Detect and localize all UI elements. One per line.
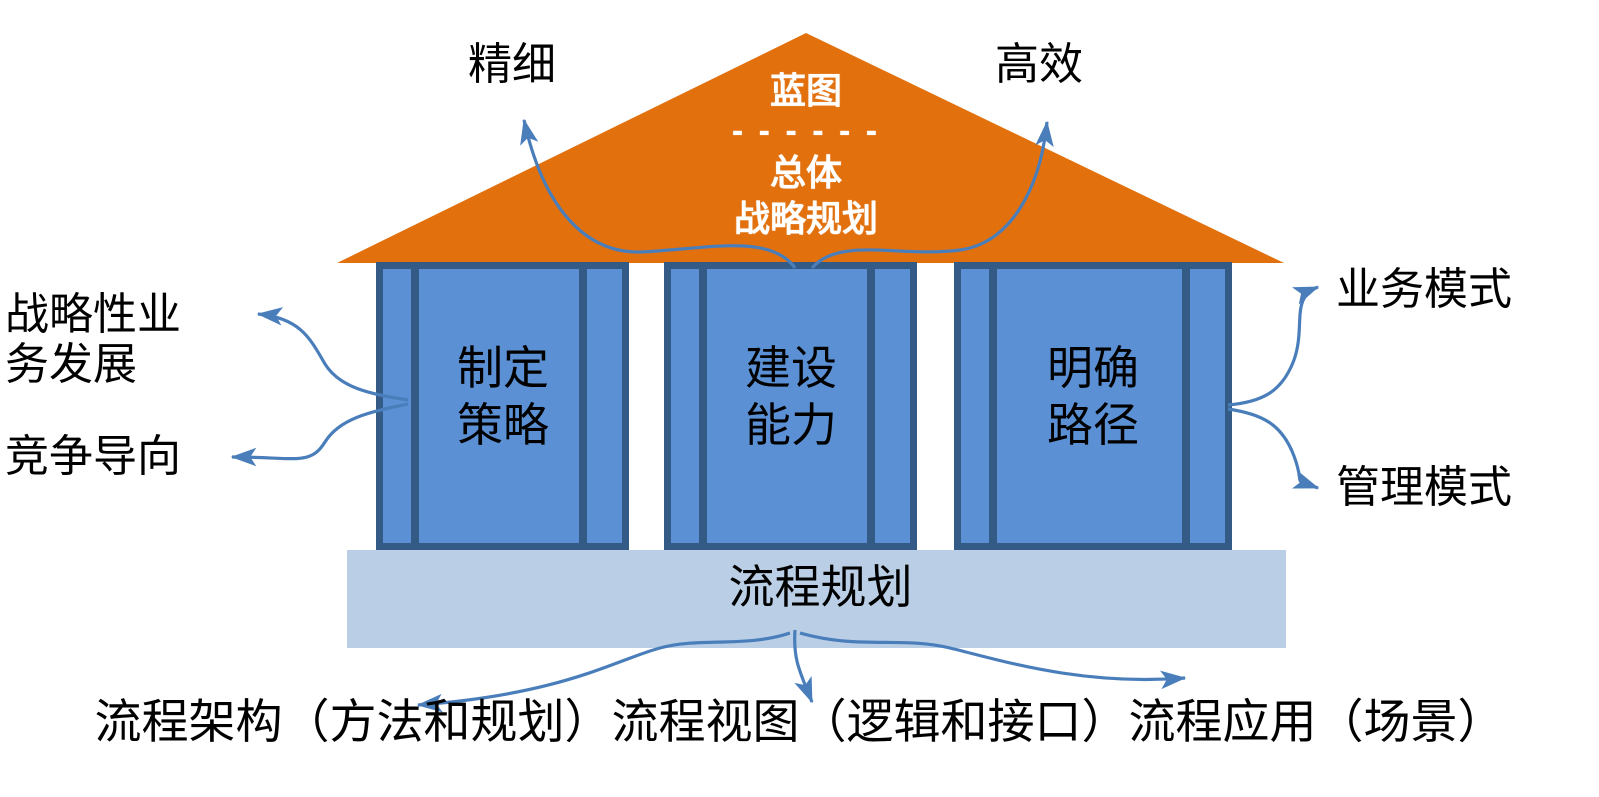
pillar-1-label: 制定 策略 — [376, 340, 630, 454]
arrow-to-management-model — [1228, 409, 1318, 488]
callout-top-right: 高效 — [995, 40, 1165, 90]
roof-divider: - - - - - - — [648, 114, 964, 150]
diagram-canvas: 蓝图 - - - - - - 总体 战略规划 制定 策略 建设 能力 明确 路径… — [0, 0, 1599, 797]
bottom-label-process-application: 流程应用（场景） — [1129, 695, 1505, 748]
pillar-1-line-2: 策略 — [376, 397, 630, 454]
arrow-to-business-model — [1228, 287, 1318, 405]
callout-left-top: 战略性业 务发展 — [5, 290, 235, 390]
bottom-label-process-architecture: 流程架构（方法和规划） — [95, 695, 612, 748]
pillar-3-label: 明确 路径 — [954, 340, 1232, 454]
base-bar-label: 流程规划 — [355, 560, 1286, 615]
roof-line-overall: 总体 — [648, 150, 964, 196]
bottom-label-process-view: 流程视图（逻辑和接口） — [612, 695, 1129, 748]
pillar-2-line-2: 能力 — [664, 397, 918, 454]
pillar-2-line-1: 建设 — [664, 340, 918, 397]
callout-right-bottom: 管理模式 — [1336, 463, 1586, 513]
roof-text-block: 蓝图 - - - - - - 总体 战略规划 — [648, 68, 964, 242]
pillar-1-line-1: 制定 — [376, 340, 630, 397]
bottom-labels-row: 流程架构（方法和规划）流程视图（逻辑和接口）流程应用（场景） — [0, 696, 1599, 748]
callout-right-top: 业务模式 — [1336, 265, 1586, 315]
pillar-2-label: 建设 能力 — [664, 340, 918, 454]
roof-line-blueprint: 蓝图 — [648, 68, 964, 114]
pillar-3-line-1: 明确 — [954, 340, 1232, 397]
callout-left-bottom: 竞争导向 — [5, 432, 235, 482]
callout-top-left: 精细 — [468, 40, 638, 90]
pillar-3-line-2: 路径 — [954, 397, 1232, 454]
roof-line-strategic-planning: 战略规划 — [648, 196, 964, 242]
